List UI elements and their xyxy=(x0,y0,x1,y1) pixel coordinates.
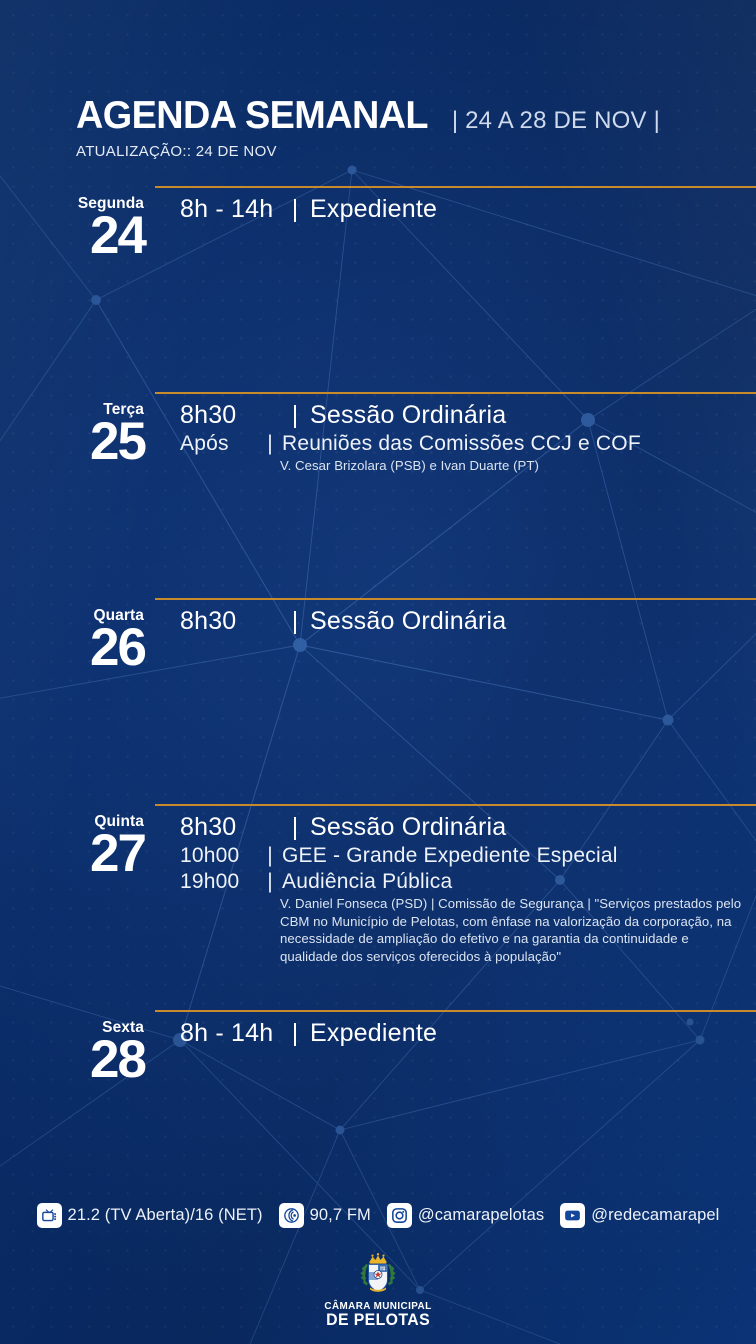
entry-time: 8h30 xyxy=(180,607,280,636)
entry-separator: | xyxy=(258,870,282,894)
logo-line-2: DE PELOTAS xyxy=(326,1312,430,1329)
entry-time: 8h - 14h xyxy=(180,1019,280,1048)
day-label-column: Quarta26 xyxy=(0,607,145,672)
coat-of-arms-icon xyxy=(359,1252,397,1296)
entry-separator: | xyxy=(280,401,310,430)
day-entries: 8h - 14h|Expediente xyxy=(180,1019,750,1048)
footer-channels: 21.2 (TV Aberta)/16 (NET) 90,7 FM @camar… xyxy=(0,1203,756,1228)
entry-note: V. Cesar Brizolara (PSB) e Ivan Duarte (… xyxy=(280,457,746,475)
entry-separator: | xyxy=(280,195,310,224)
row-divider xyxy=(155,598,756,600)
schedule-entry: 8h30|Sessão Ordinária xyxy=(180,607,750,636)
entry-label: Expediente xyxy=(310,195,437,224)
day-number: 26 xyxy=(0,625,145,672)
radio-icon[interactable] xyxy=(279,1203,304,1228)
entry-separator: | xyxy=(258,432,282,456)
instagram-icon[interactable] xyxy=(387,1203,412,1228)
day-entries: 8h30|Sessão Ordinária xyxy=(180,607,750,636)
day-entries: 8h30|Sessão Ordinária10h00|GEE - Grande … xyxy=(180,813,750,966)
channel-label: @camarapelotas xyxy=(418,1206,544,1225)
day-number: 24 xyxy=(0,213,145,260)
day-entries: 8h30|Sessão OrdináriaApós|Reuniões das C… xyxy=(180,401,750,475)
page-title: AGENDA SEMANAL xyxy=(76,96,428,135)
title-row: AGENDA SEMANAL | 24 A 28 DE NOV | xyxy=(76,96,660,135)
row-divider xyxy=(155,186,756,188)
entry-time: 10h00 xyxy=(180,844,258,868)
schedule-entry: 8h30|Sessão Ordinária xyxy=(180,401,750,430)
update-stamp: ATUALIZAÇÃO:: 24 DE NOV xyxy=(76,143,660,160)
entry-label: Expediente xyxy=(310,1019,437,1048)
entry-label: Sessão Ordinária xyxy=(310,813,506,842)
entry-label: Reuniões das Comissões CCJ e COF xyxy=(282,432,641,456)
entry-label: Audiência Pública xyxy=(282,870,452,894)
entry-separator: | xyxy=(280,813,310,842)
schedule-entry: 8h - 14h|Expediente xyxy=(180,195,750,224)
institution-logo: CÂMARA MUNICIPAL DE PELOTAS xyxy=(0,1252,756,1329)
entry-separator: | xyxy=(258,844,282,868)
schedule-entry: 19h00|Audiência Pública xyxy=(180,870,750,894)
day-label-column: Terça25 xyxy=(0,401,145,466)
schedule-entry: 8h30|Sessão Ordinária xyxy=(180,813,750,842)
channel-label: 21.2 (TV Aberta)/16 (NET) xyxy=(68,1206,263,1225)
youtube-icon[interactable] xyxy=(560,1203,585,1228)
channel-label: 90,7 FM xyxy=(310,1206,371,1225)
header: AGENDA SEMANAL | 24 A 28 DE NOV | ATUALI… xyxy=(76,96,660,160)
day-number: 25 xyxy=(0,419,145,466)
footer-channel[interactable]: 21.2 (TV Aberta)/16 (NET) xyxy=(37,1203,263,1228)
entry-time: 19h00 xyxy=(180,870,258,894)
entry-time: 8h30 xyxy=(180,813,280,842)
entry-label: Sessão Ordinária xyxy=(310,401,506,430)
day-number: 27 xyxy=(0,831,145,878)
day-label-column: Sexta28 xyxy=(0,1019,145,1084)
poster-content: AGENDA SEMANAL | 24 A 28 DE NOV | ATUALI… xyxy=(0,0,756,1344)
row-divider xyxy=(155,392,756,394)
schedule-entry: 8h - 14h|Expediente xyxy=(180,1019,750,1048)
entry-time: 8h30 xyxy=(180,401,280,430)
schedule-entry: 10h00|GEE - Grande Expediente Especial xyxy=(180,844,750,868)
entry-note: V. Daniel Fonseca (PSD) | Comissão de Se… xyxy=(280,895,746,966)
entry-time: 8h - 14h xyxy=(180,195,280,224)
day-entries: 8h - 14h|Expediente xyxy=(180,195,750,224)
day-label-column: Quinta27 xyxy=(0,813,145,878)
schedule-entry: Após|Reuniões das Comissões CCJ e COF xyxy=(180,432,750,456)
entry-separator: | xyxy=(280,1019,310,1048)
tv-icon[interactable] xyxy=(37,1203,62,1228)
footer-channel[interactable]: @redecamarapel xyxy=(560,1203,719,1228)
row-divider xyxy=(155,1010,756,1012)
channel-label: @redecamarapel xyxy=(591,1206,719,1225)
entry-separator: | xyxy=(280,607,310,636)
row-divider xyxy=(155,804,756,806)
footer-channel[interactable]: @camarapelotas xyxy=(387,1203,544,1228)
entry-label: Sessão Ordinária xyxy=(310,607,506,636)
entry-time: Após xyxy=(180,432,258,456)
day-label-column: Segunda24 xyxy=(0,195,145,260)
entry-label: GEE - Grande Expediente Especial xyxy=(282,844,618,868)
day-number: 28 xyxy=(0,1037,145,1084)
date-range: | 24 A 28 DE NOV | xyxy=(452,109,660,133)
footer-channel[interactable]: 90,7 FM xyxy=(279,1203,371,1228)
